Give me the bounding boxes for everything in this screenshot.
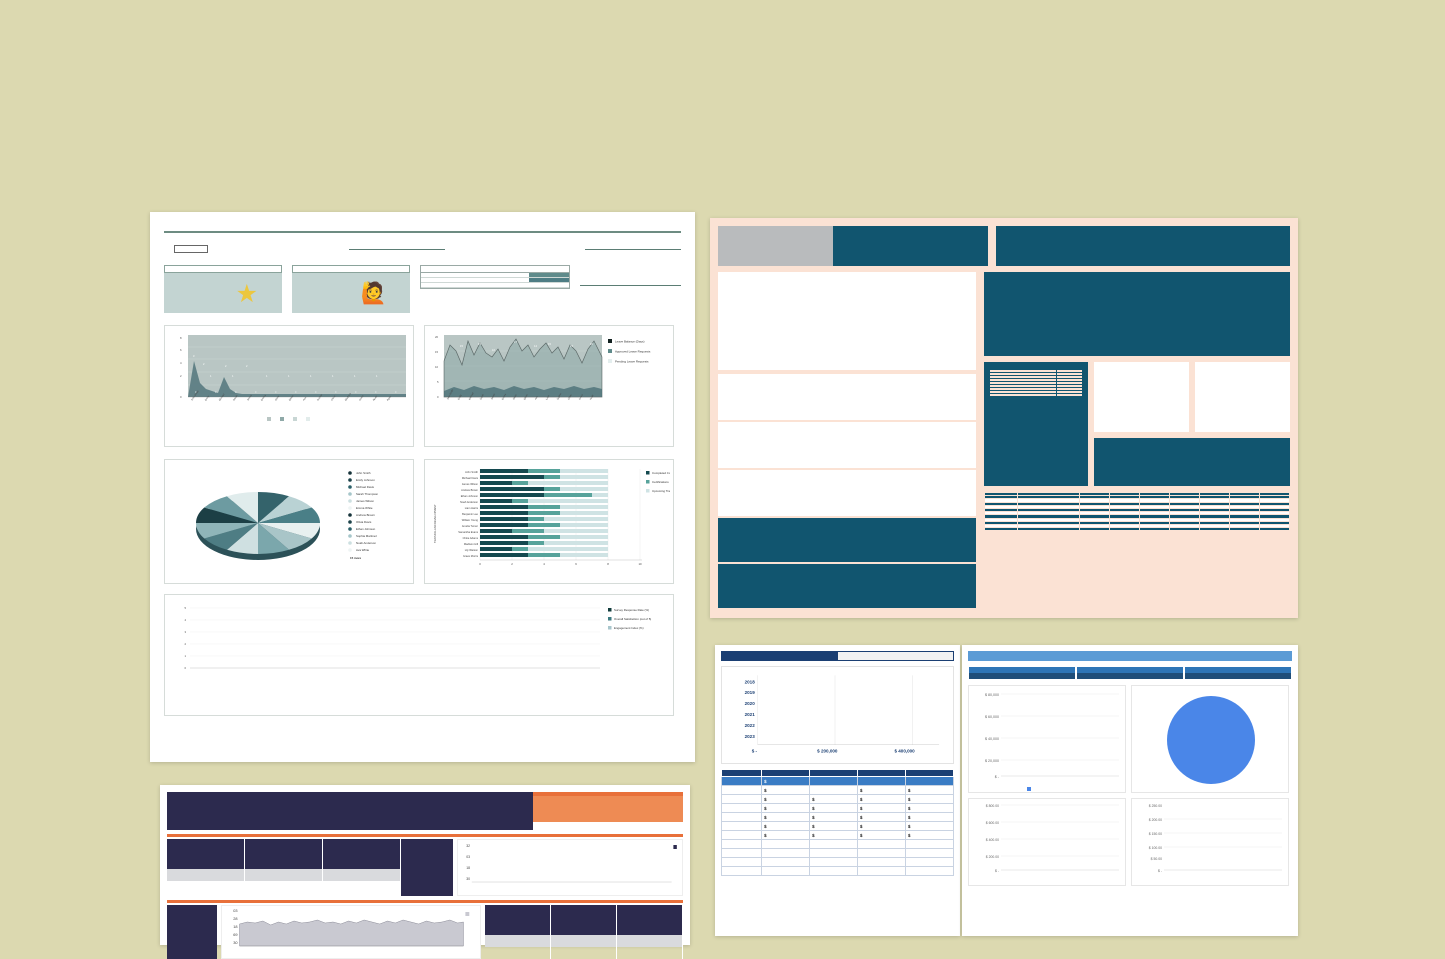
person-icon: 🙋 — [361, 281, 387, 306]
month — [990, 394, 1057, 397]
mfg-mid-right — [1094, 362, 1290, 486]
svg-text:32: 32 — [466, 844, 470, 848]
month-row — [718, 246, 988, 266]
mini-charts-grid: $ 80,000$ 60,000 $ 40,000$ 20,000$ - — [968, 685, 1292, 886]
customer-complaint-table — [984, 362, 1088, 486]
assets: $ — [858, 813, 906, 822]
svg-text:Certifications: Certifications — [652, 480, 669, 484]
chart-placeholder[interactable] — [718, 470, 976, 516]
svg-text:0: 0 — [479, 562, 481, 566]
kpi-avg-satisfaction: ★ — [164, 265, 282, 313]
assets: $ — [858, 786, 906, 795]
assets: $ — [858, 831, 906, 840]
svg-text:$ -: $ - — [995, 775, 1000, 779]
svg-text:$ 600.00: $ 600.00 — [986, 821, 999, 825]
net-worth: $ — [762, 777, 810, 786]
svg-text:2020: 2020 — [745, 701, 756, 706]
training-plot: TRAINING AND DEVELOPMENT John SmithMicha… — [430, 465, 670, 569]
assets: $ — [858, 822, 906, 831]
attendance-plot: 322 211 111 111 000 000 000 00 864 20 — [170, 331, 410, 417]
metric-label — [167, 839, 244, 869]
all-year-net-worth-chart: 201820192020 202120222023 $ -$ 200,000$ … — [721, 666, 954, 764]
svg-text:5: 5 — [184, 606, 186, 610]
summary-liabilities — [1184, 666, 1292, 680]
all-year-net-worth-card: 201820192020 202120222023 $ -$ 200,000$ … — [715, 645, 960, 936]
net-worth: $ — [762, 804, 810, 813]
svg-text:Noah Anderson: Noah Anderson — [460, 500, 478, 504]
svg-text:$ 60,000: $ 60,000 — [985, 715, 999, 719]
name — [437, 278, 529, 282]
rank — [421, 283, 437, 287]
svg-text:$ 150.00: $ 150.00 — [1149, 832, 1162, 836]
tab-yearly[interactable] — [838, 652, 954, 660]
employee-satisfaction-chart: 543 210 Survey Response Rate (%) Overall… — [164, 594, 674, 716]
multi-year-net-worth-dashboard-card: $ 80,000$ 60,000 $ 40,000$ 20,000$ - — [962, 645, 1298, 936]
period-selector — [533, 792, 683, 830]
svg-text:Amelia Turner: Amelia Turner — [462, 524, 478, 528]
hr-filter-row — [164, 245, 681, 253]
chart-placeholder[interactable] — [1195, 362, 1290, 432]
col-change — [810, 770, 858, 777]
svg-text:$ 80,000: $ 80,000 — [985, 693, 999, 697]
metric-card — [617, 905, 683, 959]
name — [437, 273, 529, 277]
performance-legend-svg: John Smith Emily Johnson Michael Davis S… — [348, 471, 378, 560]
seo-cards — [485, 905, 683, 959]
chart-placeholder[interactable] — [1094, 362, 1189, 432]
svg-text:2021: 2021 — [745, 712, 756, 717]
year-value[interactable] — [833, 226, 988, 246]
table-row: $ $ $ $ — [722, 795, 954, 804]
svg-text:0: 0 — [437, 395, 439, 399]
svg-text:18: 18 — [466, 866, 470, 870]
mfg-left-column — [718, 272, 976, 608]
metric-value — [323, 869, 400, 881]
svg-text:$ 20,000: $ 20,000 — [985, 759, 999, 763]
table-row — [722, 867, 954, 876]
star-icon: ★ — [236, 279, 258, 308]
svg-text:8: 8 — [607, 562, 609, 566]
hr-kpi-row: ★ 🙋 — [164, 265, 681, 313]
svg-text:2: 2 — [511, 562, 513, 566]
traffic-row: 32031830 — [167, 839, 683, 896]
svg-text:0: 0 — [180, 395, 182, 399]
summary-net-worth — [968, 666, 1076, 680]
svg-text:$ 50.00: $ 50.00 — [1151, 857, 1162, 861]
hr-chart-row-1: 322 211 111 111 000 000 000 00 864 20 — [164, 325, 681, 447]
svg-text:2: 2 — [180, 374, 182, 378]
svg-text:4: 4 — [184, 618, 186, 622]
assets-plot: $ 800.00$ 600.00 $ 400.00$ 200.00$ - — [969, 799, 1127, 887]
year — [722, 804, 762, 813]
net-worth: $ — [762, 786, 810, 795]
svg-text:10: 10 — [435, 365, 439, 369]
svg-text:3: 3 — [184, 630, 186, 634]
period-year[interactable] — [533, 796, 608, 822]
marketing-kpi-dashboard-card: 32031830 032818 6930 — [160, 785, 690, 945]
chart-placeholder[interactable] — [718, 564, 976, 608]
net-worth: $ — [762, 813, 810, 822]
legend-item — [306, 417, 312, 421]
svg-text:Engagement Index (%): Engagement Index (%) — [614, 626, 644, 630]
change: $ — [810, 813, 858, 822]
svg-text:15 more: 15 more — [350, 556, 361, 560]
svg-text:2019: 2019 — [745, 690, 756, 695]
liabilities: $ — [906, 813, 954, 822]
svg-text:Leave Balance (Days): Leave Balance (Days) — [615, 340, 645, 344]
svg-text:Michael Davis: Michael Davis — [356, 485, 375, 489]
svg-text:Michael Davis: Michael Davis — [462, 476, 479, 480]
change: $ — [810, 804, 858, 813]
clicks-trend-label — [167, 905, 217, 959]
metric-value — [1018, 528, 1080, 531]
svg-text:Ava White: Ava White — [356, 548, 370, 552]
year — [722, 786, 762, 795]
svg-text:18: 18 — [233, 924, 238, 929]
year-label — [718, 226, 833, 246]
mfg-dashboard-title — [996, 226, 1290, 266]
kpi-avg-leave-balance: 🙋 — [292, 265, 410, 313]
year — [722, 813, 762, 822]
svg-text:$ -: $ - — [995, 869, 999, 873]
metric-label — [245, 839, 322, 869]
leave-legend-svg: Leave Balance (Days) Approved Leave Requ… — [608, 339, 651, 364]
year — [722, 795, 762, 804]
metric-card — [323, 839, 401, 896]
year-month-selector — [718, 226, 988, 266]
seo-row: 032818 6930 — [167, 905, 683, 959]
metric-value — [617, 935, 682, 947]
svg-text:1: 1 — [184, 654, 186, 658]
svg-text:TRAINING AND DEVELOPMENT: TRAINING AND DEVELOPMENT — [433, 504, 437, 543]
svg-text:Lily Watson: Lily Watson — [465, 548, 479, 552]
clicks-plot: 032818 6930 — [222, 906, 480, 958]
svg-text:Benjamin Lee: Benjamin Lee — [462, 512, 478, 516]
svg-text:$ 200,000: $ 200,000 — [817, 749, 838, 754]
chart-placeholder[interactable] — [718, 272, 976, 370]
attendance-tracking-chart: 322 211 111 111 000 000 000 00 864 20 — [164, 325, 414, 447]
table-row: $ $ $ $ — [722, 804, 954, 813]
metric-label — [617, 905, 682, 935]
mkt-header-row — [167, 792, 683, 830]
change-plot: $ 80,000$ 60,000 $ 40,000$ 20,000$ - — [969, 686, 1127, 794]
summary-assets — [1076, 666, 1184, 680]
svg-text:$ 250.00: $ 250.00 — [1149, 804, 1162, 808]
svg-text:$ -: $ - — [1158, 869, 1162, 873]
clicks-trend-chart: 032818 6930 — [221, 905, 481, 959]
svg-text:15: 15 — [435, 350, 439, 354]
change: $ — [810, 822, 858, 831]
mfg-mid-row — [984, 362, 1290, 486]
rank — [421, 278, 437, 282]
chart-placeholder[interactable] — [718, 422, 976, 468]
metric-value — [485, 935, 550, 947]
month-select[interactable] — [174, 245, 208, 253]
svg-text:John Smith: John Smith — [356, 471, 371, 475]
month-label — [718, 246, 833, 266]
svg-text:28: 28 — [233, 916, 238, 921]
leave-plot: 151516 171415 1516 201510 50 John Smith … — [430, 331, 670, 419]
satisfaction-plot: 543 210 Survey Response Rate (%) Overall… — [170, 600, 670, 692]
table-row: $ $ $ $ — [722, 813, 954, 822]
metrics-table — [984, 492, 1290, 531]
hero-section — [0, 0, 1445, 42]
col-years — [722, 770, 762, 777]
bounce-plot: 32031830 — [458, 840, 682, 895]
leave-management-chart: 151516 171415 1516 201510 50 John Smith … — [424, 325, 674, 447]
svg-text:Survey Response Rate (%): Survey Response Rate (%) — [614, 608, 649, 612]
svg-text:$ 800.00: $ 800.00 — [986, 804, 999, 808]
svg-text:$ 40,000: $ 40,000 — [985, 737, 999, 741]
metric-label — [551, 905, 616, 935]
table-row: $ $ $ $ — [722, 831, 954, 840]
legend-item — [267, 417, 273, 421]
legend-item — [293, 417, 299, 421]
metric-card — [167, 839, 245, 896]
svg-text:John Smith: John Smith — [465, 470, 479, 474]
section-seo-performance — [167, 900, 683, 903]
svg-text:$ 100.00: $ 100.00 — [1149, 846, 1162, 850]
hr-dashboard-title — [164, 224, 681, 233]
svg-text:$ -: $ - — [752, 749, 758, 754]
svg-text:03: 03 — [466, 855, 470, 859]
assets-liabilities-pie-chart — [1131, 685, 1289, 793]
year — [722, 822, 762, 831]
chart-placeholder[interactable] — [984, 272, 1290, 356]
svg-text:Overall Satisfaction (out of 5: Overall Satisfaction (out of 5) — [614, 617, 651, 621]
metric-label — [323, 839, 400, 869]
svg-text:Olivia Davis: Olivia Davis — [356, 520, 372, 524]
svg-text:Emma White: Emma White — [356, 506, 373, 510]
change-in-net-worth-chart: $ 80,000$ 60,000 $ 40,000$ 20,000$ - — [968, 685, 1126, 793]
change: $ — [810, 795, 858, 804]
net-worth: $ — [762, 795, 810, 804]
svg-text:$ 400.00: $ 400.00 — [986, 838, 999, 842]
training-legend-svg: Completed Courses Certifications Upcomin… — [646, 471, 670, 493]
table-row: $ — [722, 777, 954, 786]
liabilities-chart: $ 250.00$ 200.00 $ 150.00$ 100.00 $ 50.0… — [1131, 798, 1289, 886]
svg-text:Sophia Martinez: Sophia Martinez — [356, 534, 377, 538]
svg-text:6: 6 — [575, 562, 577, 566]
mkt-dashboard-title — [167, 792, 533, 830]
svg-text:William Young: William Young — [462, 518, 479, 522]
year-row — [718, 226, 988, 246]
year — [722, 831, 762, 840]
satisfaction-legend-svg: Survey Response Rate (%) Overall Satisfa… — [608, 608, 651, 630]
metric-card — [485, 905, 551, 959]
svg-text:03: 03 — [233, 908, 238, 913]
metric-value — [245, 869, 322, 881]
svg-text:$ 200.00: $ 200.00 — [986, 855, 999, 859]
svg-text:2018: 2018 — [745, 679, 756, 684]
assets: $ — [858, 795, 906, 804]
table-row — [990, 394, 1083, 397]
kpi-employee-count — [580, 265, 681, 286]
change: $ — [810, 831, 858, 840]
rank — [421, 273, 437, 277]
score — [529, 283, 569, 287]
change — [810, 786, 858, 795]
liabilities: $ — [906, 786, 954, 795]
table-row: $ $ $ — [722, 786, 954, 795]
metric-card — [551, 905, 617, 959]
assets: $ — [858, 804, 906, 813]
svg-text:Approved Leave Requests: Approved Leave Requests — [615, 350, 651, 354]
tab-all-year[interactable] — [722, 652, 838, 660]
top-performers-table — [420, 265, 570, 289]
liabilities: $ — [906, 831, 954, 840]
top-performers-title — [421, 266, 569, 273]
period-month[interactable] — [608, 796, 683, 822]
svg-text:James Wilson: James Wilson — [356, 499, 374, 503]
svg-text:Samantha Evans: Samantha Evans — [458, 530, 478, 534]
svg-text:8: 8 — [180, 336, 182, 340]
svg-text:20: 20 — [435, 335, 439, 339]
month-value[interactable] — [833, 246, 988, 266]
traffic-cards — [167, 839, 453, 896]
summary-row — [968, 666, 1292, 680]
wfh-value — [349, 248, 445, 250]
svg-text:0: 0 — [184, 666, 186, 670]
svg-text:$ 200.00: $ 200.00 — [1149, 818, 1162, 822]
svg-text:Ethan Johnson: Ethan Johnson — [461, 494, 479, 498]
mfg-small-placeholders — [1094, 362, 1290, 432]
liabilities: $ — [906, 822, 954, 831]
net-worth-bars: 201820192020 202120222023 $ -$ 200,000$ … — [726, 671, 949, 759]
metric-card — [245, 839, 323, 896]
hr-chart-row-2: John Smith Emily Johnson Michael Davis S… — [164, 459, 681, 584]
svg-text:James Wilson: James Wilson — [462, 482, 479, 486]
employee-count-value — [580, 279, 681, 286]
table-row — [722, 840, 954, 849]
svg-text:Completed Courses: Completed Courses — [652, 471, 670, 475]
legend-item — [280, 417, 286, 421]
svg-text:30: 30 — [233, 940, 238, 945]
col-assets — [858, 770, 906, 777]
svg-text:4: 4 — [543, 562, 545, 566]
svg-text:$ 400,000: $ 400,000 — [894, 749, 915, 754]
svg-text:Madison Hill: Madison Hill — [464, 542, 479, 546]
pie-plot — [1132, 686, 1290, 794]
metric-value — [167, 869, 244, 881]
chart-placeholder[interactable] — [718, 374, 976, 420]
svg-text:69: 69 — [233, 932, 237, 937]
col-liabilities — [906, 770, 954, 777]
year — [722, 777, 762, 786]
svg-text:Noah Anderson: Noah Anderson — [356, 541, 376, 545]
score — [529, 278, 569, 282]
net-worth-table: $ $ $ $ $ $ $ $ $ $ $ $ $ $ $ $ $ $ $ $ — [721, 769, 954, 876]
training-development-chart: TRAINING AND DEVELOPMENT John SmithMicha… — [424, 459, 674, 584]
onsite-value — [585, 248, 681, 250]
svg-text:10: 10 — [638, 562, 642, 566]
svg-text:2: 2 — [184, 642, 186, 646]
table-row — [421, 283, 569, 288]
chart-placeholder[interactable] — [718, 518, 976, 562]
net-worth: $ — [762, 822, 810, 831]
manufacturing-kpi-dashboard-card — [710, 218, 1298, 618]
svg-text:Grace Morris: Grace Morris — [463, 554, 479, 558]
svg-text:Chloe Adams: Chloe Adams — [463, 536, 479, 540]
name — [437, 283, 529, 287]
mfg-header-row — [718, 226, 1290, 266]
table-row — [985, 528, 1290, 531]
net-worth: $ — [762, 831, 810, 840]
svg-text:Pending Leave Requests: Pending Leave Requests — [615, 360, 649, 364]
kpi-avg-satisfaction-label — [164, 265, 282, 273]
table-row — [722, 849, 954, 858]
svg-text:Sarah Thompson: Sarah Thompson — [356, 492, 379, 496]
mfg-right-column — [984, 272, 1290, 608]
svg-text:30: 30 — [466, 877, 470, 881]
year-tabs — [721, 651, 954, 661]
svg-text:2022: 2022 — [745, 723, 756, 728]
table-row — [722, 858, 954, 867]
svg-text:Emily Johnson: Emily Johnson — [356, 478, 375, 482]
liabilities: $ — [906, 804, 954, 813]
score — [529, 273, 569, 277]
svg-text:2023: 2023 — [745, 734, 756, 739]
svg-text:4: 4 — [180, 361, 182, 365]
table-row: $ $ $ $ — [722, 822, 954, 831]
bounce-visit-chart: 32031830 — [457, 839, 683, 896]
nwr-dashboard-title — [968, 651, 1292, 661]
bounce-visit-label — [401, 839, 453, 896]
chart-placeholder[interactable] — [1094, 438, 1290, 486]
table-header-row — [722, 770, 954, 777]
svg-text:5: 5 — [437, 380, 439, 384]
col-net-worth — [762, 770, 810, 777]
svg-text:Upcoming Trainings: Upcoming Trainings — [652, 489, 670, 493]
liabilities-plot: $ 250.00$ 200.00 $ 150.00$ 100.00 $ 50.0… — [1132, 799, 1290, 887]
svg-text:Andrew Brown: Andrew Brown — [461, 488, 478, 492]
mfg-body — [718, 272, 1290, 608]
section-website-traffic — [167, 834, 683, 837]
svg-text:Liam Harris: Liam Harris — [465, 506, 479, 510]
hr-employee-dashboard-card: ★ 🙋 — [150, 212, 695, 762]
svg-text:6: 6 — [180, 348, 182, 352]
liabilities: $ — [906, 795, 954, 804]
metric-label — [485, 905, 550, 935]
metric-name — [985, 528, 1018, 531]
count — [1057, 394, 1083, 397]
performance-management-chart: John Smith Emily Johnson Michael Davis S… — [164, 459, 414, 584]
complaint-rows — [989, 369, 1083, 397]
svg-text:Ethan Johnson: Ethan Johnson — [356, 527, 376, 531]
svg-text:Andrew Brown: Andrew Brown — [356, 513, 375, 517]
performance-pie: John Smith Emily Johnson Michael Davis S… — [170, 465, 410, 570]
chart-legend — [170, 417, 408, 421]
assets-chart: $ 800.00$ 600.00 $ 400.00$ 200.00$ - — [968, 798, 1126, 886]
kpi-avg-leave-balance-label — [292, 265, 410, 273]
metric-value — [551, 935, 616, 947]
